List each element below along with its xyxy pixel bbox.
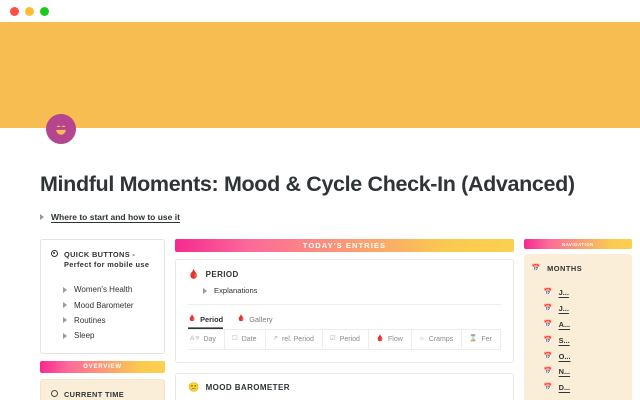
month-item-3[interactable]: 📅 A... bbox=[544, 317, 624, 333]
three-column-layout: QUICK BUTTONS - Perfect for mobile use W… bbox=[40, 239, 600, 400]
month-item-5[interactable]: 📅 O... bbox=[544, 348, 624, 364]
quick-buttons-title-line1: QUICK BUTTONS - bbox=[64, 250, 135, 259]
minimize-button[interactable] bbox=[25, 7, 34, 16]
month-label: N... bbox=[559, 367, 571, 376]
quick-link-label: Routines bbox=[74, 316, 106, 325]
window-titlebar bbox=[0, 0, 640, 22]
arrow-up-right-icon: ↗ bbox=[273, 336, 278, 343]
text-icon: A ≡ bbox=[190, 336, 199, 343]
quick-buttons-card: QUICK BUTTONS - Perfect for mobile use W… bbox=[40, 239, 165, 354]
column-header-period[interactable]: ☑ Period bbox=[323, 330, 369, 349]
current-time-title: CURRENT TIME bbox=[64, 389, 124, 400]
month-item-1[interactable]: 📅 J... bbox=[544, 285, 624, 301]
intro-toggle[interactable]: Where to start and how to use it bbox=[40, 212, 600, 222]
blood-drop-icon: 🩸 bbox=[376, 336, 384, 343]
column-header-day[interactable]: A ≡ Day bbox=[188, 330, 225, 349]
smiley-face-icon bbox=[52, 120, 70, 138]
column-header-flow[interactable]: 🩸 Flow bbox=[369, 330, 412, 349]
current-time-card: CURRENT TIME 📅 bbox=[40, 379, 165, 400]
blood-drop-icon: 🩸 bbox=[237, 316, 245, 323]
calendar-icon: 📅 bbox=[544, 337, 553, 344]
column-label: Flow bbox=[388, 336, 403, 343]
left-column: QUICK BUTTONS - Perfect for mobile use W… bbox=[40, 239, 165, 400]
intro-toggle-label: Where to start and how to use it bbox=[51, 212, 180, 222]
column-header-rel-period[interactable]: ↗ rel. Period bbox=[266, 330, 323, 349]
calendar-icon: 📅 bbox=[544, 384, 553, 391]
month-label: J... bbox=[559, 304, 569, 313]
mood-barometer-card: 😕 MOOD BAROMETER bbox=[175, 373, 514, 400]
todays-entries-banner: TODAY'S ENTRIES bbox=[175, 239, 514, 252]
column-label: Fer bbox=[481, 336, 492, 343]
period-header: 🩸 PERIOD bbox=[188, 270, 501, 279]
month-label: D... bbox=[559, 383, 571, 392]
column-label: rel. Period bbox=[282, 336, 314, 343]
column-label: Date bbox=[242, 336, 257, 343]
page-icon-avatar[interactable] bbox=[46, 114, 76, 144]
month-label: S... bbox=[559, 336, 570, 345]
months-header: 📅 MONTHS bbox=[532, 264, 624, 273]
calendar-icon: 📅 bbox=[544, 305, 553, 312]
column-header-fertility[interactable]: ⌛ Fer bbox=[462, 330, 501, 349]
quick-buttons-header: QUICK BUTTONS - Perfect for mobile use bbox=[50, 249, 155, 271]
column-label: Period bbox=[340, 336, 360, 343]
explanations-label: Explanations bbox=[214, 286, 257, 295]
calendar-icon: 📅 bbox=[532, 265, 541, 272]
overview-banner: OVERVIEW bbox=[40, 361, 165, 373]
tab-period-label: Period bbox=[200, 315, 223, 324]
chevron-right-icon[interactable] bbox=[203, 288, 207, 294]
quick-link-mood-barometer[interactable]: Mood Barometer bbox=[63, 297, 155, 312]
month-label: A... bbox=[559, 320, 571, 329]
quick-buttons-links: Women's Health Mood Barometer Routines S… bbox=[50, 282, 155, 344]
quick-link-label: Sleep bbox=[74, 331, 94, 340]
target-icon bbox=[50, 249, 58, 257]
chevron-right-icon bbox=[63, 287, 67, 293]
blood-drop-icon: 🩸 bbox=[188, 270, 200, 279]
quick-buttons-title: QUICK BUTTONS - Perfect for mobile use bbox=[64, 249, 149, 271]
mood-barometer-title: MOOD BAROMETER bbox=[206, 383, 290, 392]
maximize-button[interactable] bbox=[40, 7, 49, 16]
quick-link-label: Women's Health bbox=[74, 285, 132, 294]
quick-link-routines[interactable]: Routines bbox=[63, 313, 155, 328]
circle-icon bbox=[50, 389, 58, 397]
period-database: 🩸 Period 🩸 Gallery A ≡ Day bbox=[188, 315, 501, 350]
chevron-right-icon bbox=[63, 302, 67, 308]
database-view-tabs: 🩸 Period 🩸 Gallery bbox=[188, 315, 501, 330]
database-column-headers: A ≡ Day ☐ Date ↗ rel. Period ☑ bbox=[188, 330, 501, 350]
calendar-icon: 📅 bbox=[544, 353, 553, 360]
chevron-right-icon bbox=[63, 333, 67, 339]
right-column: NAVIGATION 📅 MONTHS 📅 J... 📅 J... bbox=[524, 239, 632, 400]
page-title: Mindful Moments: Mood & Cycle Check-In (… bbox=[40, 172, 600, 197]
month-label: O... bbox=[559, 352, 571, 361]
tab-period[interactable]: 🩸 Period bbox=[188, 315, 223, 329]
quick-buttons-title-line2: Perfect for mobile use bbox=[64, 260, 149, 269]
navigation-banner: NAVIGATION bbox=[524, 239, 632, 249]
calendar-icon: 📅 bbox=[544, 368, 553, 375]
months-card: 📅 MONTHS 📅 J... 📅 J... 📅 A... bbox=[524, 254, 632, 400]
calendar-icon: ☐ bbox=[232, 336, 238, 343]
quick-link-label: Mood Barometer bbox=[74, 301, 134, 310]
current-time-header: CURRENT TIME bbox=[50, 389, 155, 400]
hourglass-icon: ⌛ bbox=[469, 336, 477, 343]
quick-link-sleep[interactable]: Sleep bbox=[63, 328, 155, 343]
section-divider bbox=[188, 304, 501, 305]
chevron-right-icon bbox=[63, 317, 67, 323]
main-column: TODAY'S ENTRIES 🩸 PERIOD Explanations 🩸 bbox=[175, 239, 514, 400]
page-cover[interactable] bbox=[0, 22, 640, 128]
tab-gallery-label: Gallery bbox=[249, 315, 272, 324]
column-label: Cramps bbox=[429, 336, 454, 343]
month-item-7[interactable]: 📅 D... bbox=[544, 380, 624, 396]
period-title: PERIOD bbox=[206, 270, 239, 279]
month-item-2[interactable]: 📅 J... bbox=[544, 301, 624, 317]
column-header-date[interactable]: ☐ Date bbox=[225, 330, 266, 349]
quick-link-womens-health[interactable]: Women's Health bbox=[63, 282, 155, 297]
column-label: Day bbox=[203, 336, 215, 343]
chevron-right-icon[interactable] bbox=[40, 214, 44, 220]
checkbox-icon: ☑ bbox=[330, 336, 336, 343]
blood-drop-icon: 🩸 bbox=[188, 316, 196, 323]
period-panel: 🩸 PERIOD Explanations 🩸 Period bbox=[175, 259, 514, 363]
month-label: J... bbox=[559, 288, 569, 297]
months-list: 📅 J... 📅 J... 📅 A... 📅 S... bbox=[532, 285, 624, 395]
close-button[interactable] bbox=[10, 7, 19, 16]
sun-icon: ☼ bbox=[419, 336, 425, 343]
explanations-toggle[interactable]: Explanations bbox=[188, 286, 501, 295]
tab-gallery[interactable]: 🩸 Gallery bbox=[237, 315, 273, 329]
calendar-icon: 📅 bbox=[544, 289, 553, 296]
calendar-icon: 📅 bbox=[544, 321, 553, 328]
document-body: Mindful Moments: Mood & Cycle Check-In (… bbox=[0, 172, 640, 400]
month-item-6[interactable]: 📅 N... bbox=[544, 364, 624, 380]
month-item-4[interactable]: 📅 S... bbox=[544, 332, 624, 348]
months-title: MONTHS bbox=[547, 264, 582, 273]
neutral-face-icon: 😕 bbox=[188, 383, 200, 392]
column-header-cramps[interactable]: ☼ Cramps bbox=[412, 330, 462, 349]
